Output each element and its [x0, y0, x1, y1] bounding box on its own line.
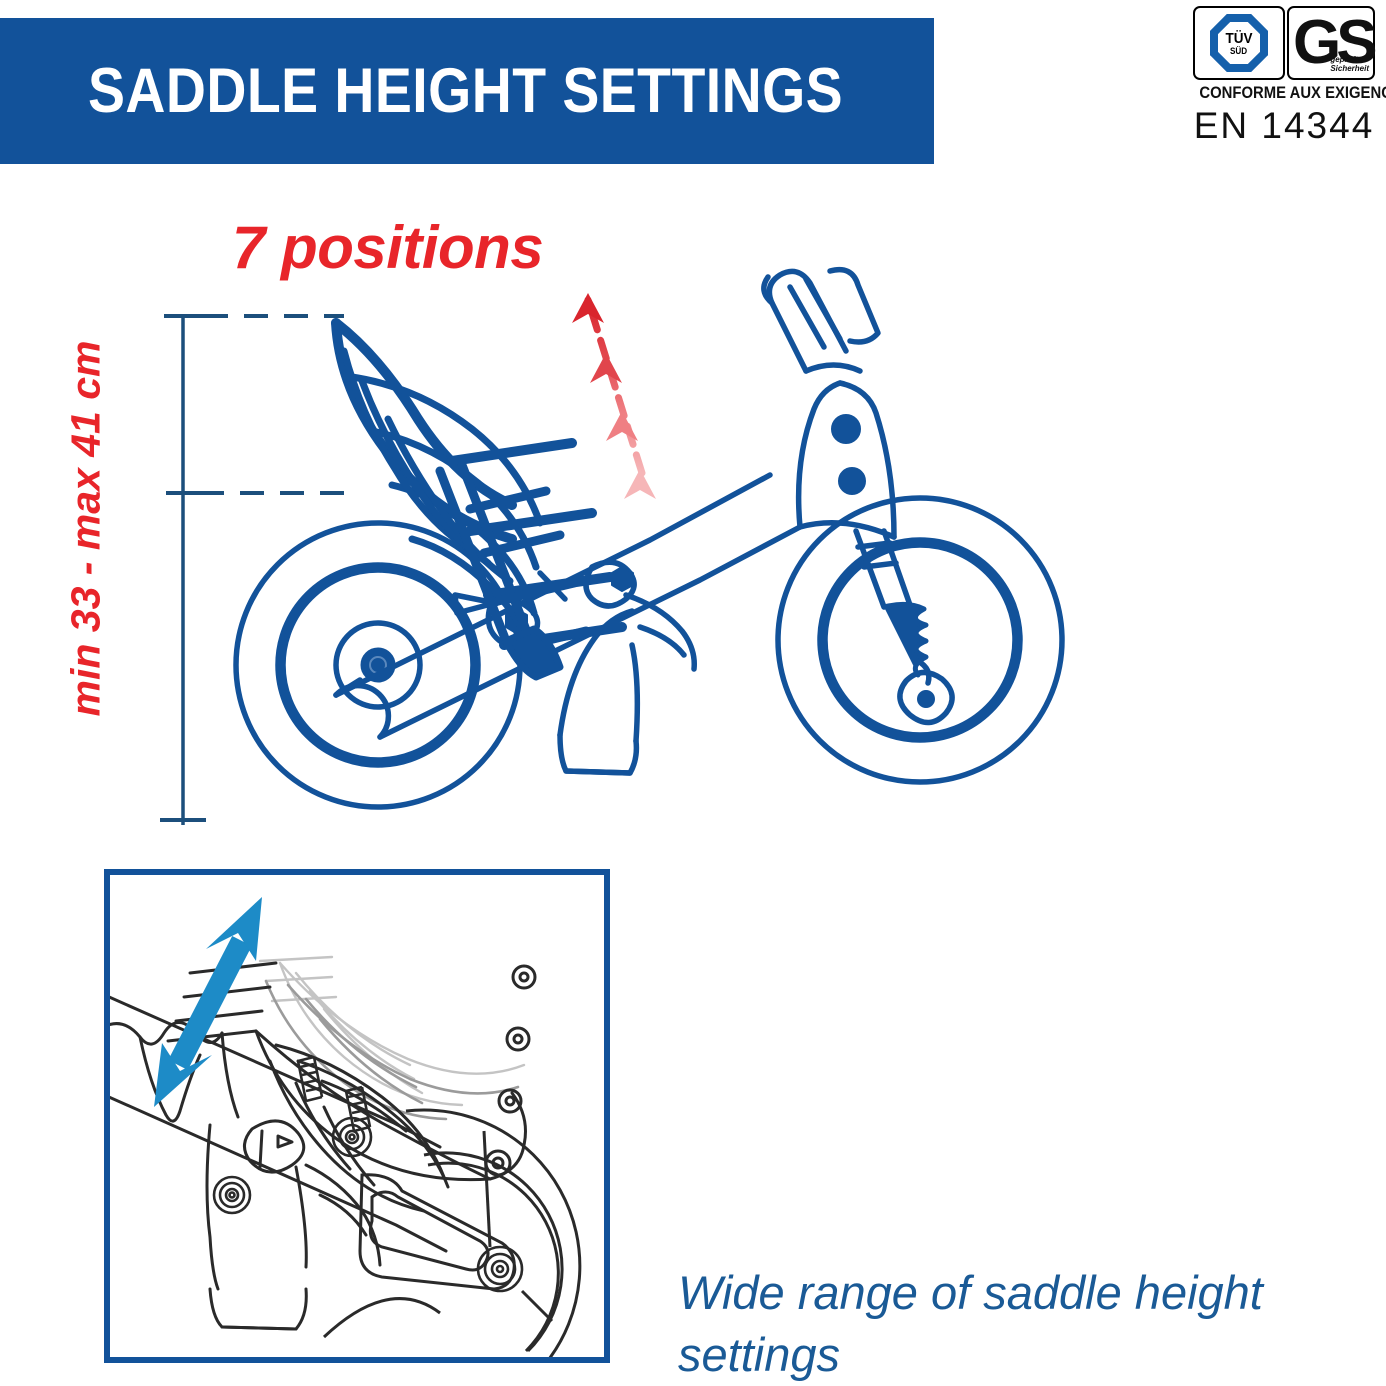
- certification-standard-number: EN 14344: [1190, 106, 1378, 146]
- saddle-detail-drawing: [110, 875, 604, 1357]
- stem-bolt-lower-icon: [839, 468, 865, 494]
- caption-text: Wide range of saddle height settings: [678, 1262, 1318, 1386]
- tuv-label: TÜV: [1226, 31, 1253, 46]
- pivot-bolt-icon: [612, 567, 633, 591]
- adjustment-range-arrow: [572, 293, 656, 499]
- tuv-octagon-icon: TÜV SÜD: [1210, 14, 1268, 72]
- handlebar-grip: [764, 270, 878, 371]
- saddle-height-range-label: min 33 - max 41 cm: [63, 319, 110, 739]
- wheel-detail-arcs: [324, 1110, 580, 1363]
- saddle-detail-inset-panel: [104, 869, 610, 1363]
- certification-standard-text: CONFORME AUX EXIGENCES DE SÉCURITÉ: [1199, 84, 1368, 103]
- height-dimension-line: [160, 315, 344, 825]
- gs-subtext-line1: geprüfte: [1330, 55, 1362, 64]
- bike-line-drawing: [0, 175, 1120, 855]
- main-bike-illustration: 7 positions min 33 - max 41 cm: [0, 175, 1120, 855]
- sud-label: SÜD: [1230, 47, 1247, 56]
- front-hub: [900, 661, 952, 723]
- header-banner: SADDLE HEIGHT SETTINGS: [0, 18, 934, 164]
- tuv-octagon-inner: TÜV SÜD: [1218, 22, 1260, 64]
- tuv-sud-logo: TÜV SÜD: [1193, 6, 1285, 80]
- adjustment-arrow-icon: [154, 897, 262, 1107]
- gs-subtext-line2: Sicherheit: [1330, 64, 1369, 73]
- gs-subtext: geprüfte Sicherheit: [1330, 55, 1369, 73]
- page-title: SADDLE HEIGHT SETTINGS: [0, 55, 843, 127]
- stem-bolt-upper-icon: [832, 415, 860, 443]
- head-tube: [799, 365, 894, 537]
- certification-block: TÜV SÜD GS geprüfte Sicherheit CONFORME …: [1190, 6, 1378, 146]
- certification-logos: TÜV SÜD GS geprüfte Sicherheit: [1190, 6, 1378, 80]
- gs-logo: GS geprüfte Sicherheit: [1287, 6, 1375, 80]
- footrest-slot: [360, 1175, 514, 1289]
- positions-count-label: 7 positions: [232, 213, 543, 282]
